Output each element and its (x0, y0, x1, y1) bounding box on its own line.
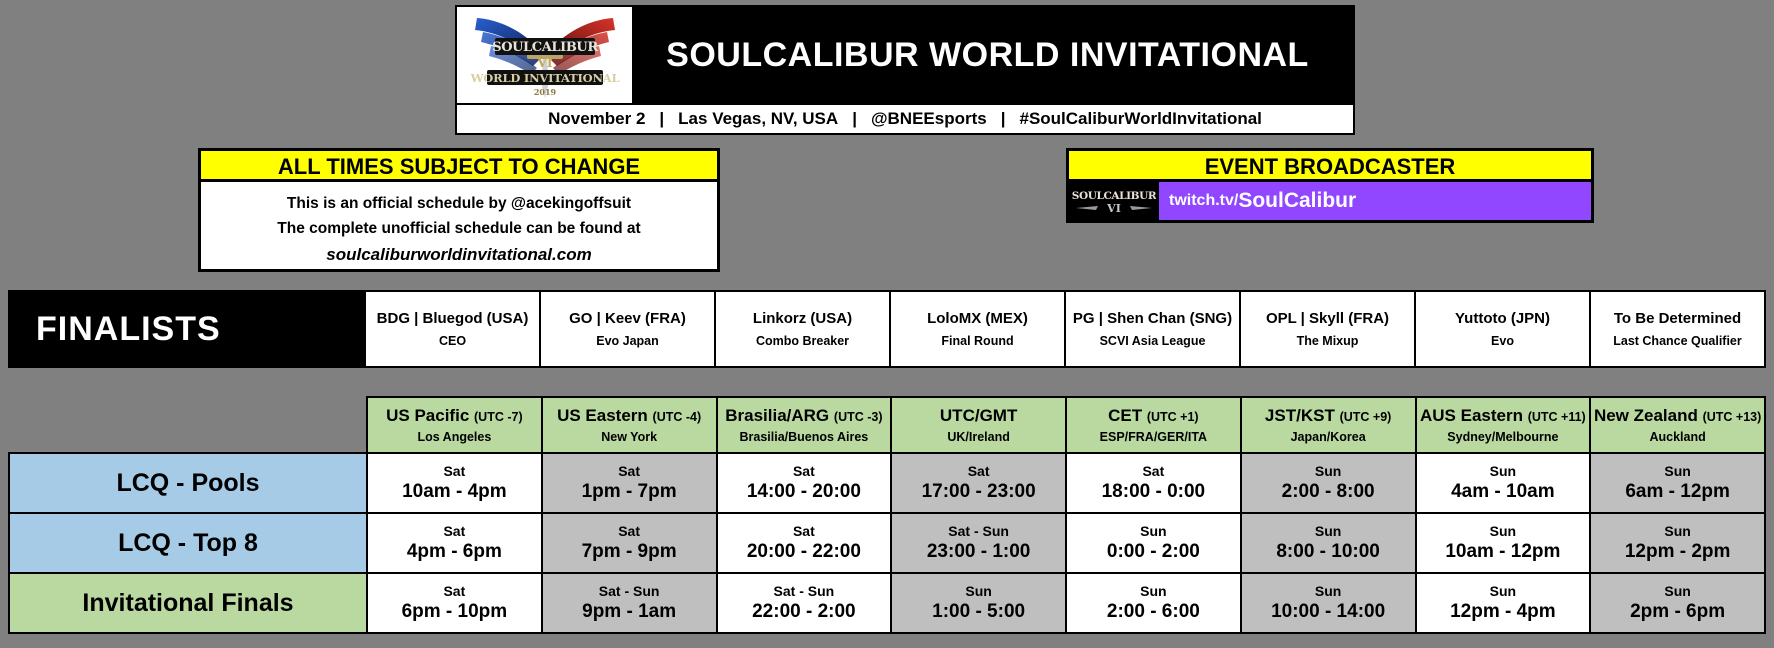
event-subtitle: November 2 | Las Vegas, NV, USA | @BNEEs… (455, 105, 1355, 135)
schedule-cell: Sun 12pm - 4pm (1416, 573, 1591, 633)
cell-day: Sat - Sun (892, 523, 1065, 539)
timezone-offset: (UTC +9) (1340, 410, 1392, 424)
cell-time: 22:00 - 2:00 (718, 601, 891, 623)
cell-time: 17:00 - 23:00 (892, 481, 1065, 503)
twitch-prefix: twitch.tv/ (1169, 192, 1238, 210)
disclaimer-box: ALL TIMES SUBJECT TO CHANGE This is an o… (198, 148, 720, 272)
timezone-header: JST/KST (UTC +9) Japan/Korea (1241, 397, 1416, 453)
timezone-header: US Eastern (UTC -4) New York (542, 397, 717, 453)
cell-day: Sun (1591, 463, 1764, 479)
finalists-row: FINALISTS BDG | Bluegod (USA) CEO GO | K… (8, 290, 1766, 368)
subtitle-separator-1: | (645, 109, 678, 129)
timezone-name: CET (1108, 406, 1142, 425)
svg-text:WORLD INVITATIONAL: WORLD INVITATIONAL (469, 71, 619, 85)
timezone-header: CET (UTC +1) ESP/FRA/GER/ITA (1066, 397, 1241, 453)
timezone-city: Brasilia/Buenos Aires (718, 430, 891, 444)
cell-time: 2:00 - 8:00 (1242, 481, 1415, 503)
finalist-name: Linkorz (USA) (753, 310, 852, 327)
schedule-graphic: SOULCALIBUR VI WORLD INVITATIONAL 2019 S… (0, 0, 1774, 648)
schedule-cell: Sat 20:00 - 22:00 (717, 513, 892, 573)
cell-time: 10:00 - 14:00 (1242, 601, 1415, 623)
schedule-cell: Sun 10am - 12pm (1416, 513, 1591, 573)
timezone-name: US Pacific (386, 406, 469, 425)
cell-time: 4am - 10am (1417, 481, 1590, 503)
finalist-cell: OPL | Skyll (FRA) The Mixup (1241, 290, 1416, 368)
schedule-table: US Pacific (UTC -7) Los Angeles US Easte… (8, 396, 1766, 634)
timezone-city: ESP/FRA/GER/ITA (1067, 430, 1240, 444)
finalist-cell: Linkorz (USA) Combo Breaker (716, 290, 891, 368)
row-label: Invitational Finals (9, 573, 367, 633)
timezone-header: UTC/GMT UK/Ireland (891, 397, 1066, 453)
finalist-qualifier: Combo Breaker (756, 334, 849, 348)
timezone-name: New Zealand (1594, 406, 1698, 425)
cell-time: 6pm - 10pm (368, 601, 541, 623)
event-location: Las Vegas, NV, USA (678, 109, 838, 129)
cell-time: 18:00 - 0:00 (1067, 481, 1240, 503)
timezone-name: Brasilia/ARG (725, 406, 829, 425)
svg-text:VI: VI (536, 56, 552, 70)
table-corner-spacer (9, 397, 367, 453)
timezone-city: Sydney/Melbourne (1417, 430, 1590, 444)
cell-time: 6am - 12pm (1591, 481, 1764, 503)
cell-time: 1:00 - 5:00 (892, 601, 1065, 623)
svg-text:2019: 2019 (533, 87, 556, 97)
cell-time: 20:00 - 22:00 (718, 541, 891, 563)
timezone-header: AUS Eastern (UTC +11) Sydney/Melbourne (1416, 397, 1591, 453)
cell-day: Sat (543, 523, 716, 539)
cell-day: Sun (1417, 523, 1590, 539)
timezone-city: Los Angeles (368, 430, 541, 444)
timezone-name: JST/KST (1265, 406, 1335, 425)
schedule-cell: Sat - Sun 23:00 - 1:00 (891, 513, 1066, 573)
timezone-offset: (UTC -4) (653, 410, 702, 424)
schedule-cell: Sun 2pm - 6pm (1590, 573, 1765, 633)
cell-time: 12pm - 2pm (1591, 541, 1764, 563)
cell-day: Sat (892, 463, 1065, 479)
finalist-name: Yuttoto (JPN) (1455, 310, 1550, 327)
cell-time: 10am - 4pm (368, 481, 541, 503)
cell-day: Sat (718, 523, 891, 539)
finalist-cell: BDG | Bluegod (USA) CEO (366, 290, 541, 368)
cell-day: Sat (543, 463, 716, 479)
cell-time: 23:00 - 1:00 (892, 541, 1065, 563)
cell-time: 2:00 - 6:00 (1067, 601, 1240, 623)
schedule-cell: Sun 2:00 - 6:00 (1066, 573, 1241, 633)
timezone-name: UTC/GMT (940, 406, 1017, 425)
schedule-cell: Sun 1:00 - 5:00 (891, 573, 1066, 633)
finalist-qualifier: Evo Japan (596, 334, 659, 348)
finalist-cell: Yuttoto (JPN) Evo (1416, 290, 1591, 368)
tournament-logo: SOULCALIBUR VI WORLD INVITATIONAL 2019 (457, 7, 632, 103)
finalist-cell: PG | Shen Chan (SNG) SCVI Asia League (1066, 290, 1241, 368)
timezone-offset: (UTC -3) (834, 410, 883, 424)
schedule-cell: Sun 6am - 12pm (1590, 453, 1765, 513)
schedule-url-link[interactable]: soulcaliburworldinvitational.com (201, 241, 717, 269)
cell-time: 8:00 - 10:00 (1242, 541, 1415, 563)
timezone-header: New Zealand (UTC +13) Auckland (1590, 397, 1765, 453)
row-label: LCQ - Pools (9, 453, 367, 513)
schedule-cell: Sat 7pm - 9pm (542, 513, 717, 573)
schedule-cell: Sat - Sun 9pm - 1am (542, 573, 717, 633)
schedule-row-invitational-finals: Invitational Finals Sat 6pm - 10pm Sat -… (9, 573, 1765, 633)
header-bar: SOULCALIBUR VI WORLD INVITATIONAL 2019 S… (455, 5, 1355, 105)
cell-day: Sun (1591, 583, 1764, 599)
disclaimer-body: This is an official schedule by @aceking… (201, 182, 717, 269)
cell-day: Sun (1242, 523, 1415, 539)
subtitle-separator-3: | (987, 109, 1020, 129)
cell-time: 9pm - 1am (543, 601, 716, 623)
cell-day: Sat (718, 463, 891, 479)
schedule-cell: Sat 17:00 - 23:00 (891, 453, 1066, 513)
cell-day: Sat (368, 463, 541, 479)
schedule-cell: Sat 10am - 4pm (367, 453, 542, 513)
soulcalibur-vi-logo-icon: SOULCALIBUR VI (1069, 182, 1159, 220)
cell-day: Sat (368, 583, 541, 599)
event-title: SOULCALIBUR WORLD INVITATIONAL (632, 7, 1353, 103)
svg-text:SOULCALIBUR: SOULCALIBUR (1072, 190, 1156, 202)
event-date: November 2 (548, 109, 645, 129)
row-label: LCQ - Top 8 (9, 513, 367, 573)
disclaimer-banner: ALL TIMES SUBJECT TO CHANGE (201, 151, 717, 182)
timezone-header: US Pacific (UTC -7) Los Angeles (367, 397, 542, 453)
cell-day: Sat - Sun (543, 583, 716, 599)
event-header: SOULCALIBUR VI WORLD INVITATIONAL 2019 S… (455, 5, 1355, 135)
finalist-qualifier: Evo (1491, 334, 1514, 348)
cell-time: 0:00 - 2:00 (1067, 541, 1240, 563)
timezone-header-row: US Pacific (UTC -7) Los Angeles US Easte… (9, 397, 1765, 453)
svg-text:VI: VI (1106, 202, 1121, 215)
timezone-header: Brasilia/ARG (UTC -3) Brasilia/Buenos Ai… (717, 397, 892, 453)
cell-day: Sun (1067, 583, 1240, 599)
finalist-name: To Be Determined (1614, 310, 1741, 327)
finalist-qualifier: Last Chance Qualifier (1613, 334, 1742, 348)
cell-day: Sun (1417, 463, 1590, 479)
finalists-title: FINALISTS (8, 290, 366, 368)
schedule-cell: Sun 10:00 - 14:00 (1241, 573, 1416, 633)
finalist-cell: To Be Determined Last Chance Qualifier (1591, 290, 1766, 368)
schedule-cell: Sat 4pm - 6pm (367, 513, 542, 573)
schedule-cell: Sat 1pm - 7pm (542, 453, 717, 513)
finalist-cell: LoloMX (MEX) Final Round (891, 290, 1066, 368)
subtitle-separator-2: | (838, 109, 871, 129)
schedule-cell: Sat 18:00 - 0:00 (1066, 453, 1241, 513)
svg-text:SOULCALIBUR: SOULCALIBUR (492, 40, 598, 55)
cell-time: 12pm - 4pm (1417, 601, 1590, 623)
timezone-city: Japan/Korea (1242, 430, 1415, 444)
event-hashtag: #SoulCaliburWorldInvitational (1019, 109, 1261, 129)
schedule-cell: Sun 0:00 - 2:00 (1066, 513, 1241, 573)
cell-time: 2pm - 6pm (1591, 601, 1764, 623)
finalist-cell: GO | Keev (FRA) Evo Japan (541, 290, 716, 368)
schedule-cell: Sun 2:00 - 8:00 (1241, 453, 1416, 513)
timezone-offset: (UTC +13) (1703, 410, 1762, 424)
event-handle: @BNEEsports (871, 109, 987, 129)
disclaimer-line-1: This is an official schedule by @aceking… (201, 191, 717, 216)
twitch-channel-name: SoulCalibur (1238, 189, 1356, 213)
cell-day: Sat (1067, 463, 1240, 479)
cell-day: Sat (368, 523, 541, 539)
schedule-cell: Sun 12pm - 2pm (1590, 513, 1765, 573)
cell-day: Sun (892, 583, 1065, 599)
cell-day: Sun (1067, 523, 1240, 539)
finalist-qualifier: The Mixup (1297, 334, 1359, 348)
cell-time: 10am - 12pm (1417, 541, 1590, 563)
timezone-offset: (UTC +11) (1528, 410, 1586, 424)
schedule-row-lcq-top8: LCQ - Top 8 Sat 4pm - 6pm Sat 7pm - 9pm … (9, 513, 1765, 573)
disclaimer-line-2: The complete unofficial schedule can be … (201, 216, 717, 241)
finalist-name: OPL | Skyll (FRA) (1266, 310, 1389, 327)
twitch-channel-link[interactable]: twitch.tv/SoulCalibur (1159, 182, 1591, 220)
finalist-qualifier: CEO (439, 334, 466, 348)
timezone-name: AUS Eastern (1420, 406, 1523, 425)
cell-time: 4pm - 6pm (368, 541, 541, 563)
cell-time: 14:00 - 20:00 (718, 481, 891, 503)
finalist-name: PG | Shen Chan (SNG) (1073, 310, 1232, 327)
schedule-cell: Sat 14:00 - 20:00 (717, 453, 892, 513)
finalist-qualifier: SCVI Asia League (1100, 334, 1206, 348)
timezone-offset: (UTC -7) (474, 410, 523, 424)
cell-day: Sat - Sun (718, 583, 891, 599)
finalist-name: BDG | Bluegod (USA) (377, 310, 529, 327)
finalist-qualifier: Final Round (941, 334, 1013, 348)
cell-day: Sun (1591, 523, 1764, 539)
schedule-row-lcq-pools: LCQ - Pools Sat 10am - 4pm Sat 1pm - 7pm… (9, 453, 1765, 513)
schedule-cell: Sun 4am - 10am (1416, 453, 1591, 513)
schedule-cell: Sun 8:00 - 10:00 (1241, 513, 1416, 573)
finalist-name: LoloMX (MEX) (927, 310, 1028, 327)
soulcalibur-vi-mark-icon: SOULCALIBUR VI (1072, 184, 1156, 218)
timezone-city: New York (543, 430, 716, 444)
cell-day: Sun (1417, 583, 1590, 599)
cell-day: Sun (1242, 583, 1415, 599)
finalist-name: GO | Keev (FRA) (569, 310, 686, 327)
cell-time: 1pm - 7pm (543, 481, 716, 503)
timezone-city: Auckland (1591, 430, 1764, 444)
timezone-offset: (UTC +1) (1147, 410, 1199, 424)
timezone-name: US Eastern (557, 406, 648, 425)
broadcaster-row: SOULCALIBUR VI twitch.tv/SoulCalibur (1069, 182, 1591, 220)
cell-time: 7pm - 9pm (543, 541, 716, 563)
soulcalibur-wings-logo-icon: SOULCALIBUR VI WORLD INVITATIONAL 2019 (465, 8, 625, 102)
cell-day: Sun (1242, 463, 1415, 479)
schedule-cell: Sat 6pm - 10pm (367, 573, 542, 633)
timezone-city: UK/Ireland (892, 430, 1065, 444)
broadcaster-banner: EVENT BROADCASTER (1069, 151, 1591, 182)
schedule-cell: Sat - Sun 22:00 - 2:00 (717, 573, 892, 633)
broadcaster-box: EVENT BROADCASTER SOULCALIBUR VI twitch.… (1066, 148, 1594, 223)
